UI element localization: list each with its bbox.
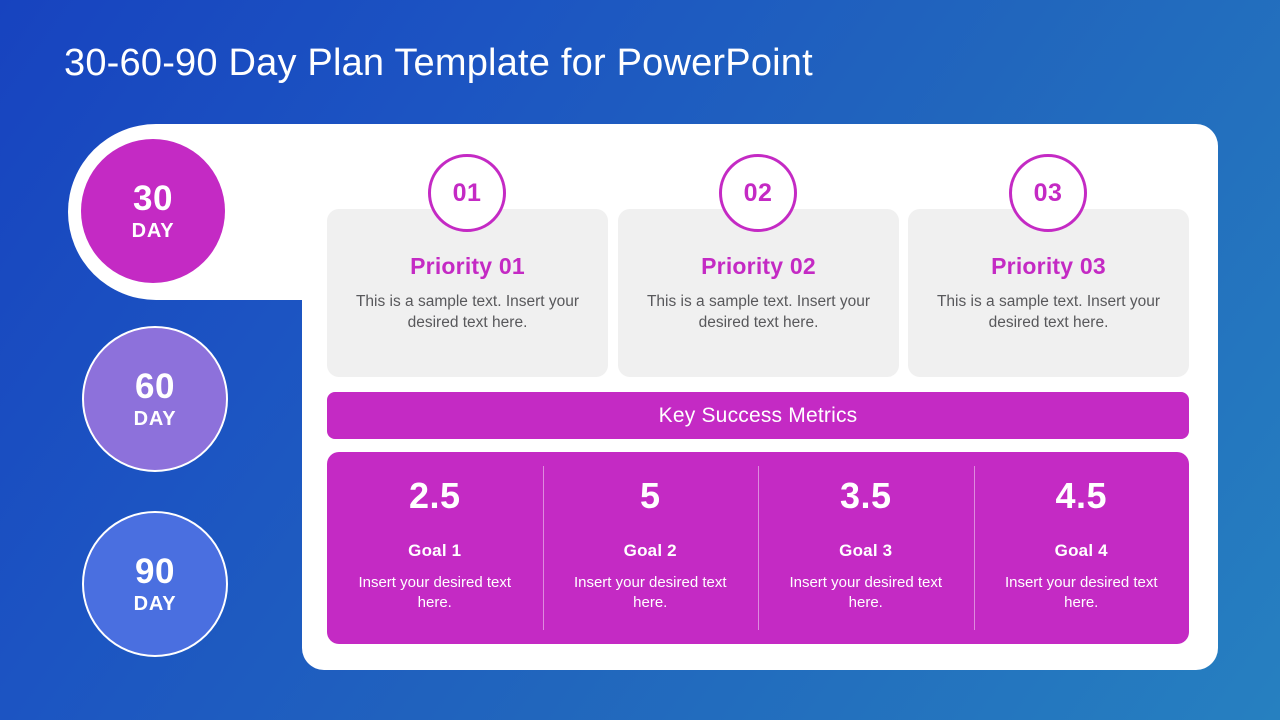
- goals-panel: 2.5 Goal 1 Insert your desired text here…: [327, 452, 1189, 644]
- priority-description: This is a sample text. Insert your desir…: [348, 292, 588, 334]
- step-number-badge-03: 03: [1009, 154, 1087, 232]
- priority-card[interactable]: Priority 01 This is a sample text. Inser…: [327, 209, 608, 377]
- goal-description: Insert your desired text here.: [781, 573, 951, 614]
- priority-description: This is a sample text. Insert your desir…: [639, 292, 879, 334]
- priority-title: Priority 01: [327, 253, 608, 280]
- page-title: 30-60-90 Day Plan Template for PowerPoin…: [64, 42, 813, 85]
- goal-value: 4.5: [1055, 478, 1107, 514]
- milestone-label: DAY: [134, 594, 177, 614]
- goal-name: Goal 4: [1055, 541, 1108, 561]
- goal-value: 2.5: [409, 478, 461, 514]
- milestone-number: 30: [133, 181, 173, 216]
- step-number-badge-02: 02: [719, 154, 797, 232]
- goal-name: Goal 2: [624, 541, 677, 561]
- goal-value: 3.5: [840, 478, 892, 514]
- milestone-circle-90-day[interactable]: 90 DAY: [82, 511, 228, 657]
- goal-column[interactable]: 2.5 Goal 1 Insert your desired text here…: [327, 452, 543, 644]
- goal-column[interactable]: 3.5 Goal 3 Insert your desired text here…: [758, 452, 974, 644]
- key-success-metrics-header: Key Success Metrics: [327, 392, 1189, 439]
- goal-column[interactable]: 4.5 Goal 4 Insert your desired text here…: [974, 452, 1190, 644]
- goal-description: Insert your desired text here.: [350, 573, 520, 614]
- milestone-label: DAY: [134, 409, 177, 429]
- milestone-number: 90: [135, 554, 175, 589]
- goal-description: Insert your desired text here.: [996, 573, 1166, 614]
- goal-name: Goal 1: [408, 541, 461, 561]
- priority-description: This is a sample text. Insert your desir…: [929, 292, 1169, 334]
- goal-value: 5: [640, 478, 661, 514]
- milestone-label: DAY: [132, 221, 175, 241]
- goal-column[interactable]: 5 Goal 2 Insert your desired text here.: [543, 452, 759, 644]
- goal-name: Goal 3: [839, 541, 892, 561]
- goal-description: Insert your desired text here.: [565, 573, 735, 614]
- step-number-badge-01: 01: [428, 154, 506, 232]
- priority-card[interactable]: Priority 03 This is a sample text. Inser…: [908, 209, 1189, 377]
- priority-card[interactable]: Priority 02 This is a sample text. Inser…: [618, 209, 899, 377]
- milestone-circle-30-day[interactable]: 30 DAY: [81, 139, 225, 283]
- priority-title: Priority 03: [908, 253, 1189, 280]
- milestone-circle-60-day[interactable]: 60 DAY: [82, 326, 228, 472]
- priority-title: Priority 02: [618, 253, 899, 280]
- milestone-number: 60: [135, 369, 175, 404]
